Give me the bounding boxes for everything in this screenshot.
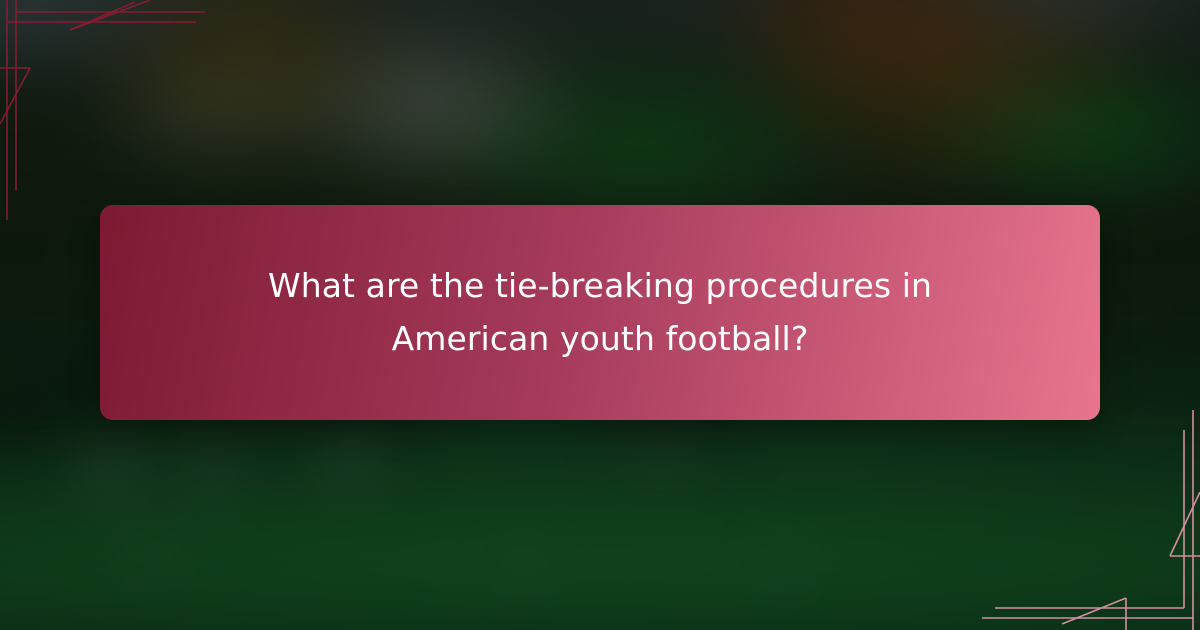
- social-card-canvas: What are the tie-breaking procedures in …: [0, 0, 1200, 630]
- question-text: What are the tie-breaking procedures in …: [158, 260, 1042, 364]
- question-card: What are the tie-breaking procedures in …: [100, 205, 1100, 420]
